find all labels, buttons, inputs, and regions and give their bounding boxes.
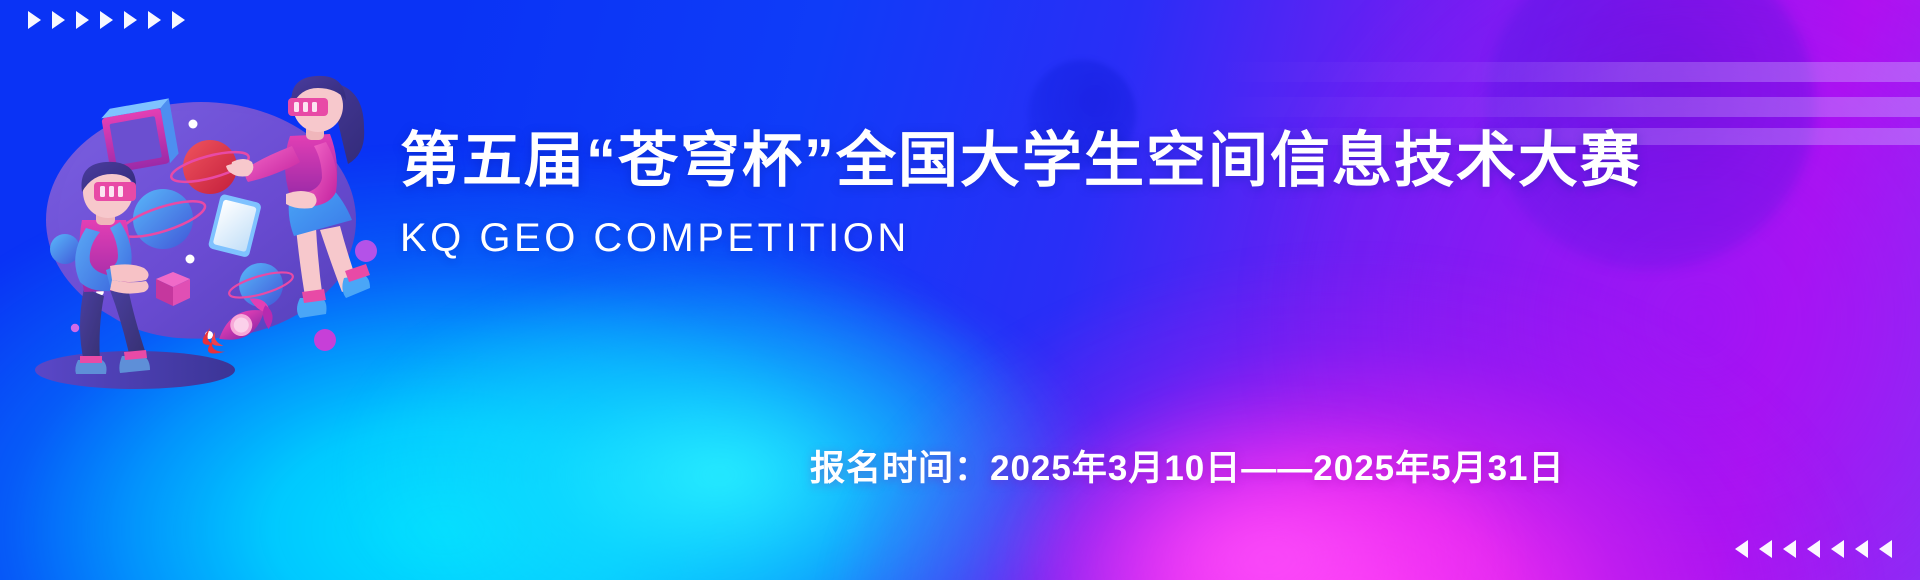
triangle-left-icon <box>1759 540 1772 558</box>
triangle-right-icon <box>28 11 41 29</box>
triangle-left-icon <box>1783 540 1796 558</box>
bottom-right-arrow-markers <box>1735 540 1892 558</box>
page-subtitle: KQ GEO COMPETITION <box>400 216 1900 261</box>
dot <box>189 120 198 129</box>
triangle-right-icon <box>52 11 65 29</box>
triangle-left-icon <box>1855 540 1868 558</box>
dot-purple-small <box>71 324 79 332</box>
competition-banner: 第五届“苍穹杯”全国大学生空间信息技术大赛 KQ GEO COMPETITION… <box>0 0 1920 580</box>
dot-purple <box>355 240 377 262</box>
triangle-right-icon <box>124 11 137 29</box>
triangle-left-icon <box>1831 540 1844 558</box>
dot <box>186 255 195 264</box>
banner-text-block: 第五届“苍穹杯”全国大学生空间信息技术大赛 KQ GEO COMPETITION <box>400 128 1900 261</box>
vr-students-space-illustration <box>18 70 378 400</box>
triangle-left-icon <box>1807 540 1820 558</box>
triangle-right-icon <box>148 11 161 29</box>
triangle-right-icon <box>76 11 89 29</box>
triangle-right-icon <box>172 11 185 29</box>
top-left-arrow-markers <box>28 11 185 29</box>
triangle-right-icon <box>100 11 113 29</box>
dot-magenta <box>314 329 336 351</box>
triangle-left-icon <box>1879 540 1892 558</box>
page-title: 第五届“苍穹杯”全国大学生空间信息技术大赛 <box>400 128 1900 194</box>
registration-date: 报名时间：2025年3月10日——2025年5月31日 <box>810 440 1565 491</box>
triangle-left-icon <box>1735 540 1748 558</box>
